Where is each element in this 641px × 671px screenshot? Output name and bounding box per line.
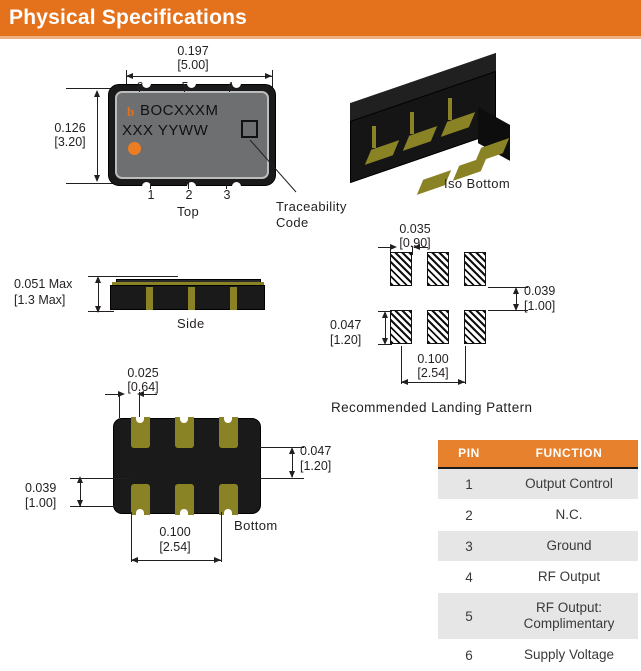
header-underline: [0, 36, 641, 39]
table-row: 6 Supply Voltage: [438, 640, 638, 671]
pin-number-cell: 6: [438, 640, 500, 671]
brand-logo-mark: b: [127, 104, 134, 120]
pin-table-header-pin: PIN: [438, 440, 500, 468]
landing-pitch-dim-line: [401, 382, 465, 383]
marking-date-code: XXX YYWW: [122, 122, 208, 139]
pin2-leader: [188, 181, 189, 189]
landing-pad-width-inches: 0.035: [385, 222, 445, 236]
bottom-view-caption: Bottom: [234, 518, 278, 533]
top-pin-label-4: 4: [223, 80, 237, 94]
landing-pitch-ext-right: [465, 346, 466, 384]
traceability-callout-line1: Traceability: [276, 199, 347, 214]
bottom-notch-3: [224, 509, 232, 515]
bottom-padwidth-ext-right: [139, 392, 140, 418]
page-title: Physical Specifications: [0, 6, 247, 30]
package-side-drawing: [106, 275, 269, 311]
landing-pad-2: [427, 310, 449, 344]
top-width-dim-line: [126, 76, 272, 77]
side-pin-c: [230, 287, 237, 310]
top-height-arrow-down: [94, 175, 100, 182]
traceability-code-box: [241, 120, 258, 138]
top-height-ext-lower: [66, 183, 114, 184]
pin-function-cell: Ground: [500, 531, 638, 562]
landing-pad-4: [464, 252, 486, 286]
top-width-arrow-left: [126, 73, 133, 79]
table-row: 5 RF Output: Complimentary: [438, 593, 638, 640]
top-height-ext-upper: [66, 88, 114, 89]
landing-pad-6: [390, 252, 412, 286]
table-row: 4 RF Output: [438, 562, 638, 593]
pin-function-cell: RF Output: [500, 562, 638, 593]
bottom-edge-gap-mm: [1.00]: [25, 496, 75, 510]
side-pin-b: [188, 287, 195, 310]
landing-row-gap-inches: 0.039: [524, 284, 576, 298]
pin-function-cell: RF Output: Complimentary: [500, 593, 638, 640]
top-height-dim-line: [97, 92, 98, 180]
pin-table-header-function: FUNCTION: [500, 440, 638, 468]
table-row: 2 N.C.: [438, 500, 638, 531]
landing-pitch-inches: 0.100: [403, 352, 463, 366]
pin4-leader: [229, 84, 230, 92]
landing-gap-arrow-down: [513, 304, 519, 311]
top-view-caption: Top: [177, 204, 199, 219]
landing-gap-ext-bottom: [488, 310, 528, 311]
bottom-notch-1: [136, 509, 144, 515]
bottom-padwidth-dim-right: [142, 394, 157, 395]
iso-bottom-caption: Iso Bottom: [444, 176, 510, 191]
bottom-padheight-ext-bottom: [258, 478, 304, 479]
landing-gap-ext-top: [488, 287, 528, 288]
pin6-leader: [139, 84, 140, 92]
landing-padheight-arrow-up: [382, 311, 388, 318]
landing-pitch-ext-left: [401, 346, 402, 384]
top-view-width-inches: 0.197: [148, 44, 238, 58]
traceability-callout-line2: Code: [276, 215, 309, 230]
landing-width-arrow-in-right: [413, 244, 420, 250]
landing-pads-group: [390, 252, 505, 344]
bottom-pad-height-mm: [1.20]: [300, 459, 352, 473]
top-view-height-mm: [3.20]: [44, 135, 96, 149]
pin3-leader: [226, 181, 227, 189]
pin-function-table: PIN FUNCTION 1 Output Control 2 N.C. 3 G…: [438, 440, 638, 671]
package-bottom-drawing: [113, 418, 261, 514]
bottom-padheight-ext-top: [258, 447, 304, 448]
top-pin-label-2: 2: [182, 188, 196, 202]
top-pin-label-1: 1: [144, 188, 158, 202]
pin5-leader: [184, 84, 185, 92]
bottom-pitch-dim-line: [131, 560, 221, 561]
iso-leg-1: [372, 126, 376, 148]
iso-leg-2: [410, 112, 414, 134]
landing-pitch-mm: [2.54]: [403, 366, 463, 380]
pin-table-header-row: PIN FUNCTION: [438, 440, 638, 468]
top-view-height-inches: 0.126: [44, 121, 96, 135]
top-pin-label-5: 5: [178, 80, 192, 94]
bottom-padheight-arrow-up: [289, 447, 295, 454]
marking-part-number: BOCXXXM: [140, 102, 219, 119]
pin-function-cell: N.C.: [500, 500, 638, 531]
bottom-pitch-ext-right: [221, 512, 222, 562]
pin-function-cell: Supply Voltage: [500, 640, 638, 671]
top-pin-label-3: 3: [220, 188, 234, 202]
side-view-caption: Side: [177, 316, 205, 331]
iso-bottom-drawing: [338, 70, 518, 182]
pin-number-cell: 5: [438, 593, 500, 640]
bottom-edgegap-ext-top: [70, 478, 130, 479]
landing-pattern-caption: Recommended Landing Pattern: [331, 400, 532, 415]
table-row: 1 Output Control: [438, 468, 638, 500]
bottom-pad-height-inches: 0.047: [300, 444, 352, 458]
bottom-edge-gap-inches: 0.039: [25, 481, 75, 495]
side-height-ext-bottom: [88, 311, 114, 312]
pin-function-cell: Output Control: [500, 468, 638, 500]
landing-pad-5: [427, 252, 449, 286]
landing-pad-height-mm: [1.20]: [330, 333, 380, 347]
bottom-pad-width-inches: 0.025: [113, 366, 173, 380]
landing-pitch-arrow-right: [458, 379, 465, 385]
pin-1-indicator-dot: [128, 142, 141, 155]
side-view-height-inches: 0.051 Max: [14, 277, 100, 291]
bottom-pitch-inches: 0.100: [145, 525, 205, 539]
landing-width-arrow-in-left: [390, 244, 397, 250]
landing-gap-arrow-up: [513, 287, 519, 294]
top-view-width-mm: [5.00]: [148, 58, 238, 72]
landing-row-gap-mm: [1.00]: [524, 299, 576, 313]
bottom-pitch-arrow-right: [214, 557, 221, 563]
pin-notch-3: [232, 182, 241, 187]
pin1-leader: [150, 181, 151, 189]
table-row: 3 Ground: [438, 531, 638, 562]
landing-pad-1: [390, 310, 412, 344]
bottom-edgegap-ext-bottom: [70, 506, 118, 507]
landing-pad-3: [464, 310, 486, 344]
pin-number-cell: 1: [438, 468, 500, 500]
bottom-padwidth-ext-left: [119, 392, 120, 418]
side-height-arrow-up: [95, 276, 101, 283]
iso-leg-3: [448, 98, 452, 120]
pin-function-line2: Complimentary: [524, 616, 615, 631]
landing-pitch-arrow-left: [401, 379, 408, 385]
side-view-height-mm: [1.3 Max]: [14, 293, 100, 307]
landing-padheight-ext-bottom: [378, 344, 392, 345]
bottom-pitch-mm: [2.54]: [145, 540, 205, 554]
pin-number-cell: 3: [438, 531, 500, 562]
top-height-arrow-up: [94, 90, 100, 97]
pin-function-line1: RF Output:: [536, 600, 602, 615]
page-header: Physical Specifications: [0, 0, 641, 36]
pin-number-cell: 4: [438, 562, 500, 593]
landing-padheight-ext-top: [378, 311, 392, 312]
bottom-pitch-ext-left: [131, 512, 132, 562]
bottom-padheight-arrow-down: [289, 471, 295, 478]
top-pin-label-6: 6: [133, 80, 147, 94]
bottom-pitch-arrow-left: [131, 557, 138, 563]
pin-number-cell: 2: [438, 500, 500, 531]
bottom-notch-2: [180, 509, 188, 515]
side-pin-a: [146, 287, 153, 310]
landing-pad-height-inches: 0.047: [330, 318, 380, 332]
top-width-arrow-right: [265, 73, 272, 79]
traceability-leader-line: [250, 140, 310, 196]
